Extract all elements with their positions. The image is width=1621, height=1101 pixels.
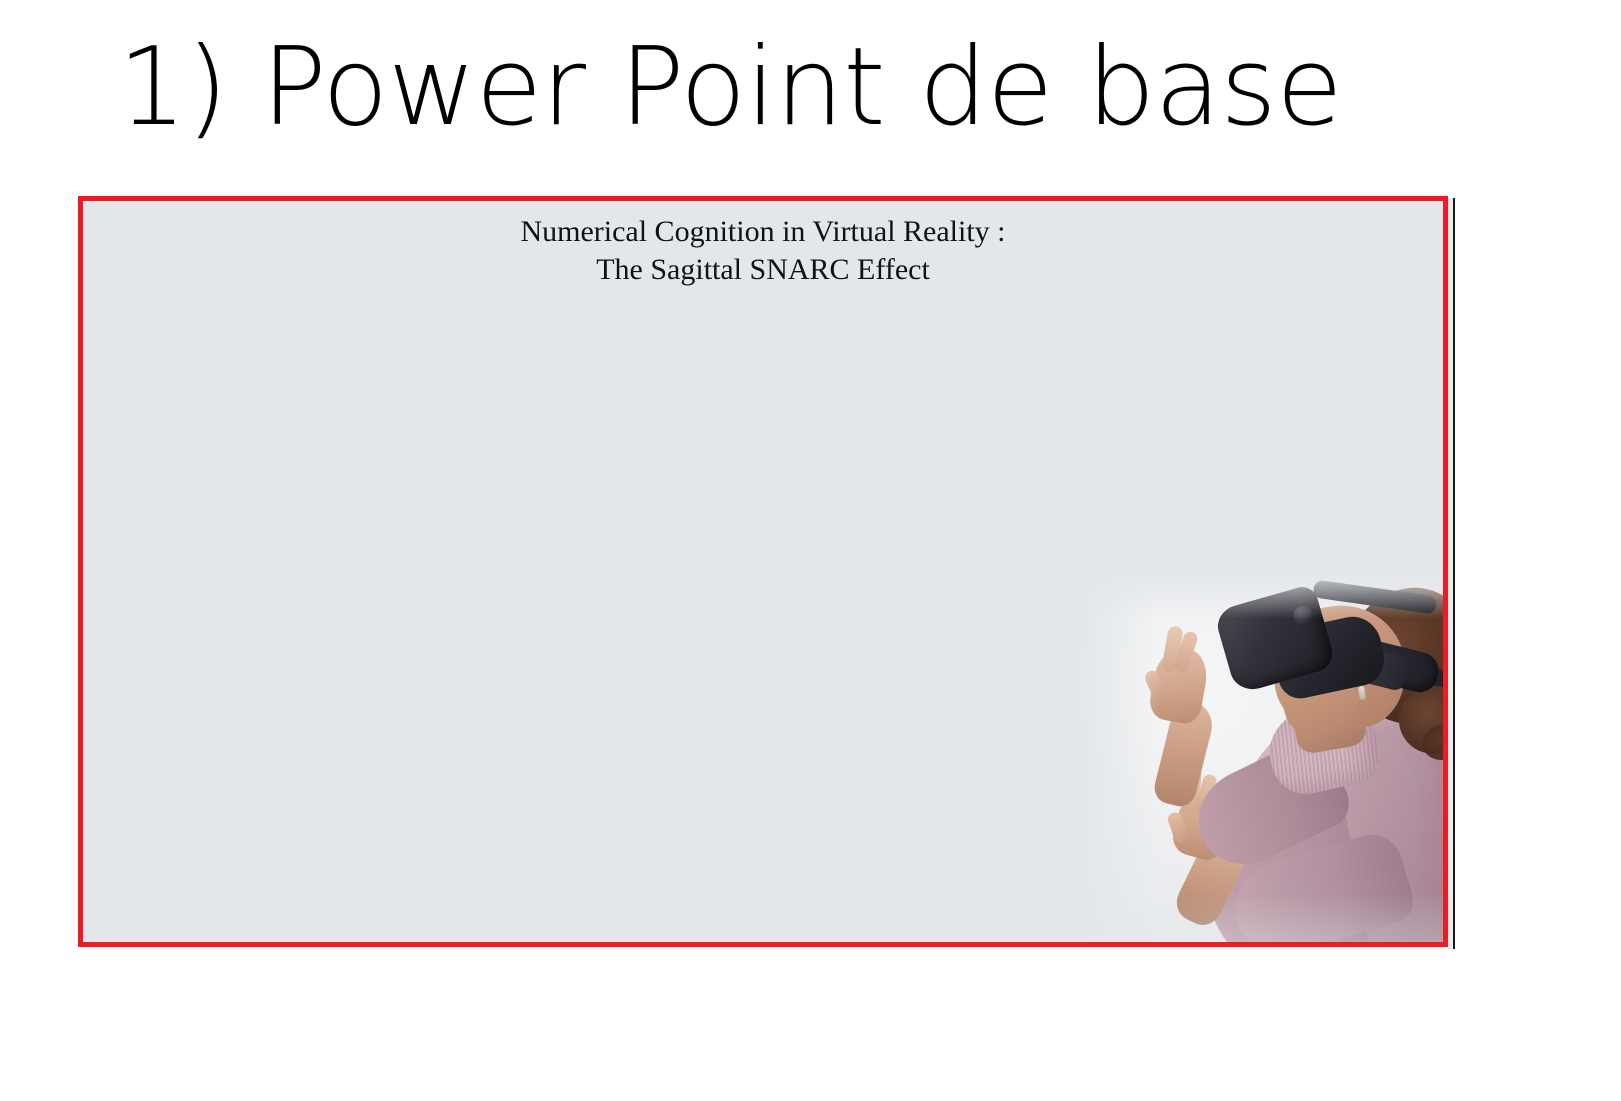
vr-headset-photo[interactable] (1077, 574, 1443, 942)
page-title: 1) Power Point de base (0, 28, 1460, 149)
vr-headset-knob (1293, 606, 1313, 626)
slide-edge-rule (1453, 198, 1455, 949)
slide-canvas[interactable]: Numerical Cognition in Virtual Reality :… (83, 201, 1443, 942)
slide-title-line-1: Numerical Cognition in Virtual Reality : (83, 213, 1443, 251)
slide-title-textbox[interactable]: Numerical Cognition in Virtual Reality :… (83, 213, 1443, 288)
slide-frame[interactable]: Numerical Cognition in Virtual Reality :… (78, 196, 1448, 947)
slide-title-line-2: The Sagittal SNARC Effect (83, 251, 1443, 289)
